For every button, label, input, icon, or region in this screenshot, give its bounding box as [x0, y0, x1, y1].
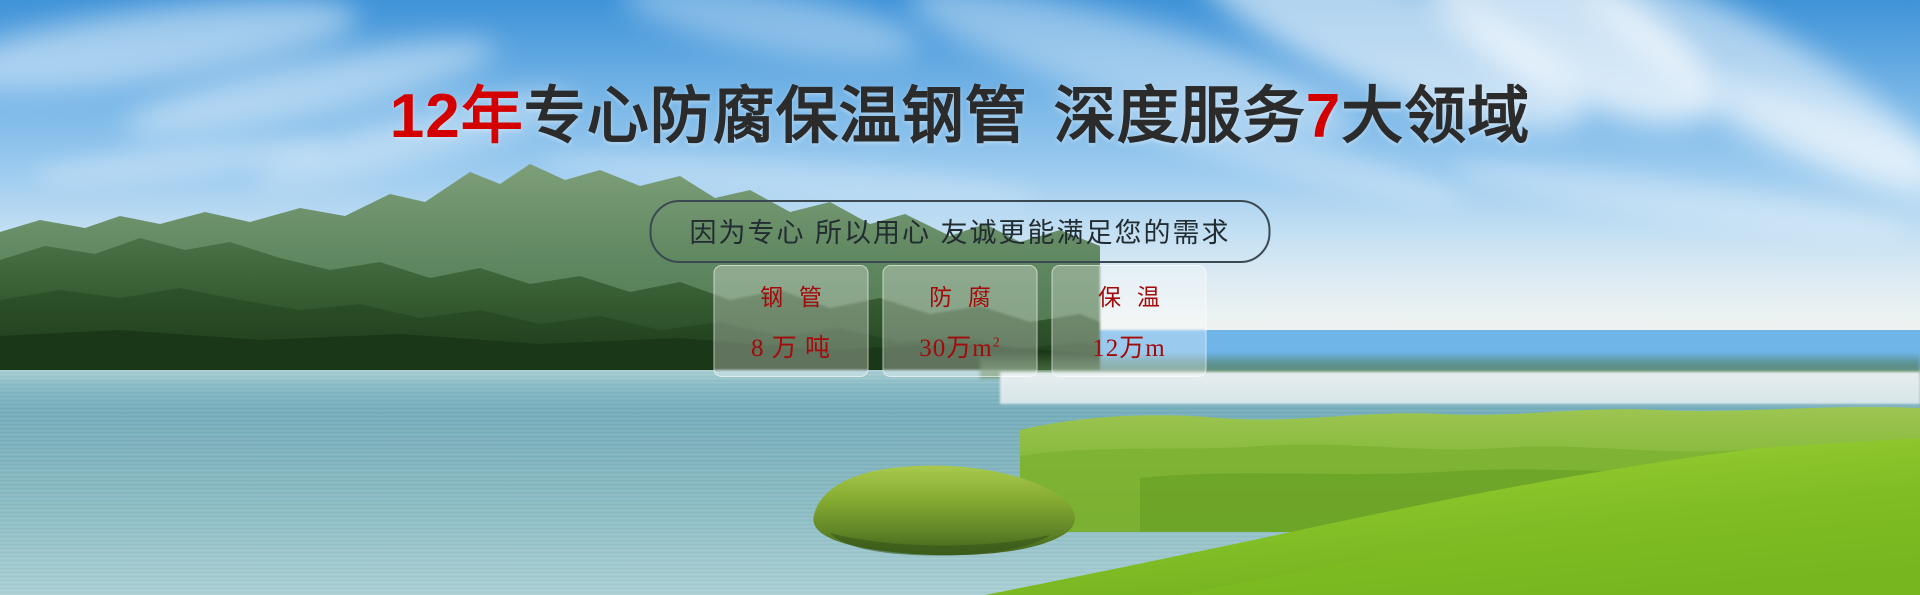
headline-main-phrase: 专心防腐保温钢管: [524, 82, 1028, 151]
stat-card-insulation[interactable]: 保 温 12万m: [1052, 265, 1207, 377]
stat-card-title: 钢 管: [755, 278, 827, 312]
stat-card-title: 保 温: [1093, 278, 1165, 312]
subtitle-pill: 因为专心 所以用心 友诚更能满足您的需求: [649, 200, 1270, 263]
stat-card-value: 12万m: [1092, 328, 1165, 364]
headline-years-unit: 年: [461, 82, 524, 151]
stat-card-anticorrosion[interactable]: 防 腐 30万m2: [883, 265, 1038, 377]
stat-card-list: 钢 管 8 万 吨 防 腐 30万m2 保 温 12万m: [714, 265, 1207, 377]
headline-fields-suffix: 大领域: [1341, 82, 1530, 151]
stat-card-value-text: 8 万 吨: [751, 335, 831, 362]
stat-card-value-text: 12万m: [1092, 335, 1165, 362]
grassy-island: [790, 455, 1090, 565]
stat-card-value: 8 万 吨: [751, 328, 831, 364]
headline-fields-number: 7: [1306, 82, 1341, 151]
headline-years-number: 12: [390, 82, 461, 151]
stat-card-title: 防 腐: [924, 278, 996, 312]
headline-service-phrase: 深度服务: [1054, 82, 1306, 151]
stat-card-value-superscript: 2: [993, 336, 1001, 351]
promo-banner: 12年专心防腐保温钢管深度服务7大领域 因为专心 所以用心 友诚更能满足您的需求…: [0, 0, 1920, 595]
page-title: 12年专心防腐保温钢管深度服务7大领域: [0, 86, 1920, 148]
stat-card-steel-pipe[interactable]: 钢 管 8 万 吨: [714, 265, 869, 377]
stat-card-value-text: 30万m: [919, 335, 992, 362]
stat-card-value: 30万m2: [919, 328, 1000, 364]
